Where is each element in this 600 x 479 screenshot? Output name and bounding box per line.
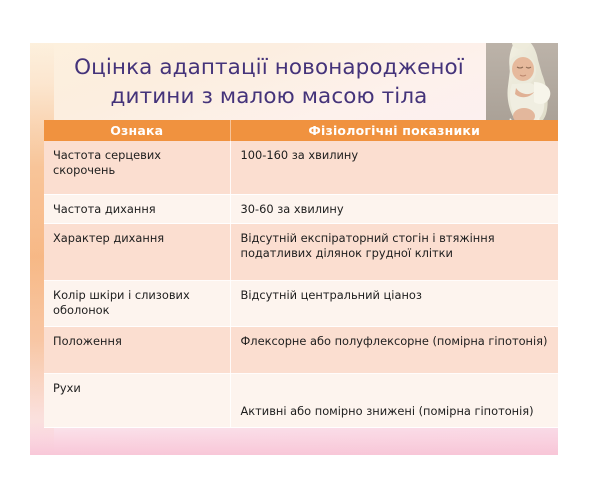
data-table: Ознака Фізіологічні показники Частота се… bbox=[44, 120, 558, 428]
column-header-sign: Ознака bbox=[44, 120, 230, 141]
cell-value: 30-60 за хвилину bbox=[230, 194, 558, 224]
cell-value: Відсутній центральний ціаноз bbox=[230, 281, 558, 327]
cell-sign: Частота серцевих скорочень bbox=[44, 141, 230, 194]
cell-sign: Характер дихання bbox=[44, 224, 230, 281]
cell-value: Активні або помірно знижені (помірна гіп… bbox=[230, 374, 558, 428]
table-row: Колір шкіри і слизових оболонок Відсутні… bbox=[44, 281, 558, 327]
table-row: Частота дихання 30-60 за хвилину bbox=[44, 194, 558, 224]
table-row: Характер дихання Відсутній експіраторний… bbox=[44, 224, 558, 281]
cell-value: 100-160 за хвилину bbox=[230, 141, 558, 194]
table-body: Частота серцевих скорочень 100-160 за хв… bbox=[44, 141, 558, 428]
page-title: Оцінка адаптації новонародженої дитини з… bbox=[46, 53, 492, 111]
cell-sign: Колір шкіри і слизових оболонок bbox=[44, 281, 230, 327]
column-header-values: Фізіологічні показники bbox=[230, 120, 558, 141]
cell-value: Відсутній експіраторний стогін і втяжінн… bbox=[230, 224, 558, 281]
adaptation-assessment-table: Ознака Фізіологічні показники Частота се… bbox=[44, 120, 558, 428]
table-header-row: Ознака Фізіологічні показники bbox=[44, 120, 558, 141]
cell-sign: Рухи bbox=[44, 374, 230, 428]
cell-sign: Частота дихання bbox=[44, 194, 230, 224]
cell-sign: Положення bbox=[44, 327, 230, 374]
table-row: Рухи Активні або помірно знижені (помірн… bbox=[44, 374, 558, 428]
table-row: Частота серцевих скорочень 100-160 за хв… bbox=[44, 141, 558, 194]
table-head: Ознака Фізіологічні показники bbox=[44, 120, 558, 141]
table-row: Положення Флексорне або полуфлексорне (п… bbox=[44, 327, 558, 374]
cell-value: Флексорне або полуфлексорне (помірна гіп… bbox=[230, 327, 558, 374]
slide-canvas: Оцінка адаптації новонародженої дитини з… bbox=[30, 43, 558, 455]
